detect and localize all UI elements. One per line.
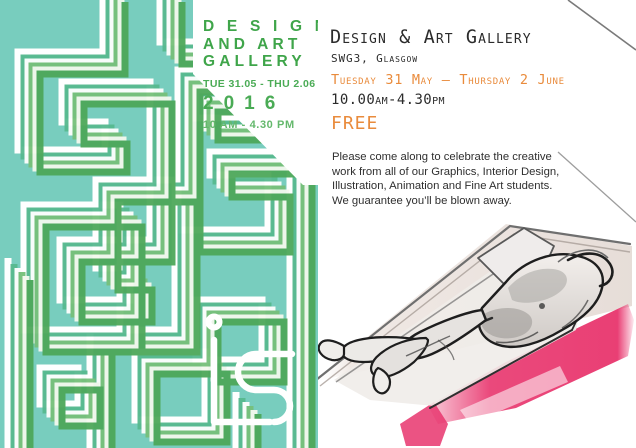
event-times: 10.00am-4.30pm	[331, 92, 445, 108]
description-line-3: Illustration, Animation and Fine Art stu…	[332, 179, 622, 194]
description-line-2: work from all of our Graphics, Interior …	[332, 165, 622, 180]
life-drawing-illustration	[318, 210, 636, 448]
event-headline: Design & Art Gallery	[330, 27, 532, 48]
right-content-panel: Design & Art Gallery SWG3, Glasgow Tuesd…	[318, 0, 636, 448]
banner-opening-hours: 10 AM - 4.30 PM	[203, 119, 310, 131]
banner-year: 2016	[203, 93, 310, 115]
event-description: Please come along to celebrate the creat…	[332, 150, 622, 208]
banner-title-line-1: D E S I G N	[203, 18, 310, 36]
banner-title-line-2: AND ART	[203, 36, 310, 54]
banner-date-range: TUE 31.05 - THU 2.06	[203, 78, 310, 90]
event-price: FREE	[331, 113, 378, 134]
is-monogram-logo	[196, 300, 306, 440]
description-line-4: We guarantee you’ll be blown away.	[332, 194, 622, 209]
event-venue: SWG3, Glasgow	[331, 52, 418, 65]
banner-title-line-3: GALLERY	[203, 53, 310, 71]
poster-canvas: D E S I G N AND ART GALLERY TUE 31.05 - …	[0, 0, 636, 448]
banner-text-block: D E S I G N AND ART GALLERY TUE 31.05 - …	[193, 0, 318, 185]
event-dates: Tuesday 31 May – Thursday 2 June	[331, 72, 565, 88]
description-line-1: Please come along to celebrate the creat…	[332, 150, 622, 165]
